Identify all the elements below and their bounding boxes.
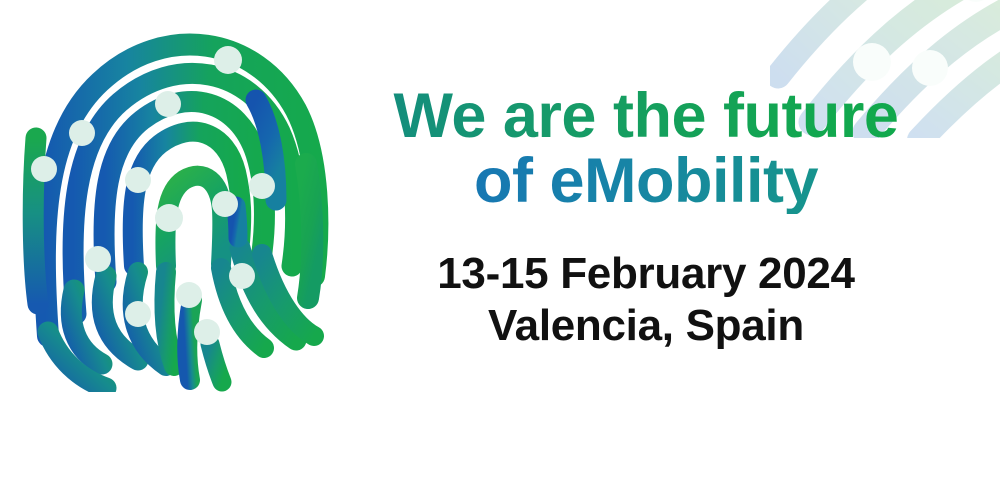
page-title: We are the future of eMobility: [336, 84, 956, 214]
event-details: 13-15 February 2024 Valencia, Spain: [336, 248, 956, 352]
event-banner: We are the future of eMobility 13-15 Feb…: [0, 0, 1000, 500]
banner-text-block: We are the future of eMobility 13-15 Feb…: [336, 84, 956, 352]
event-location: Valencia, Spain: [336, 300, 956, 352]
event-dates: 13-15 February 2024: [336, 248, 956, 300]
headline-line-2: of eMobility: [336, 149, 956, 214]
fingerprint-logo-icon: [14, 14, 334, 392]
headline-line-1: We are the future: [336, 84, 956, 149]
